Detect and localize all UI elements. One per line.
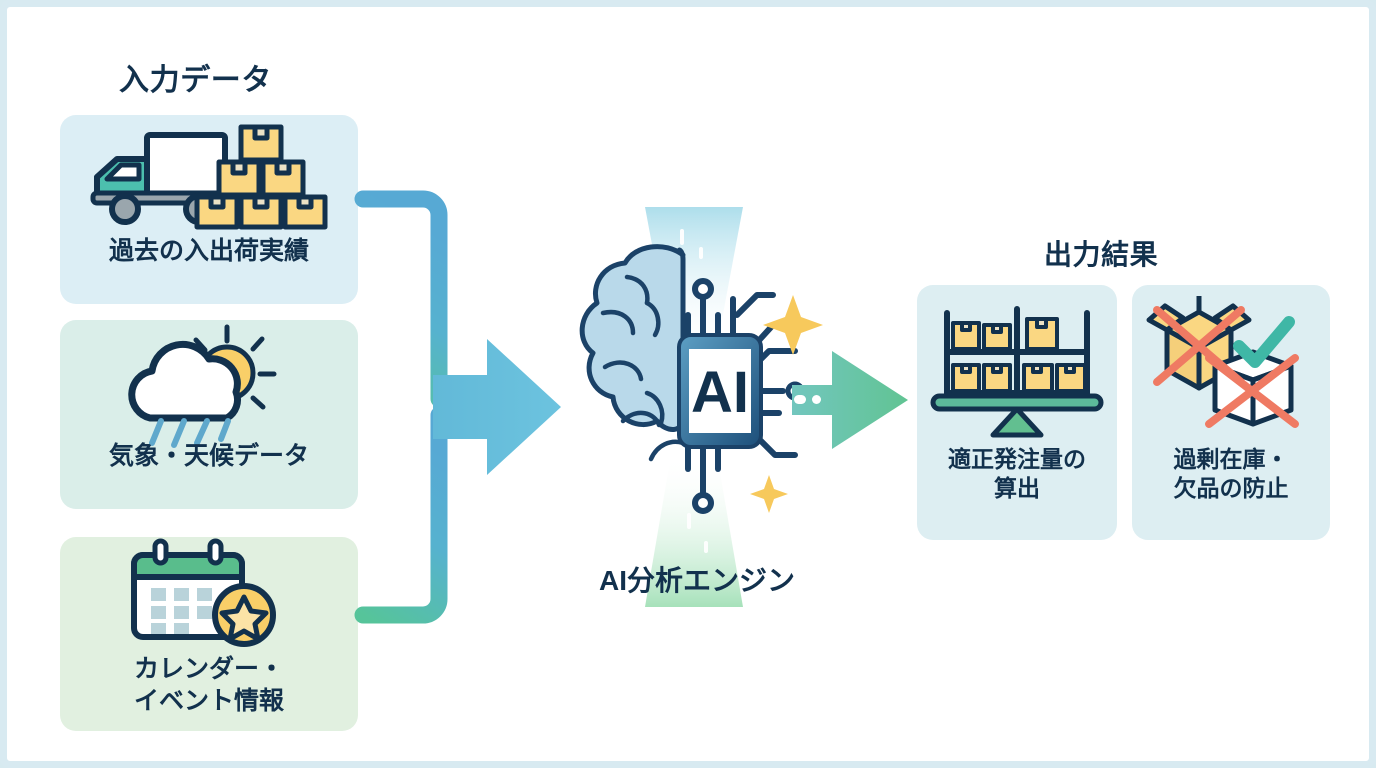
input-card-shipping-label: 過去の入出荷実績 [109, 235, 309, 267]
calendar-star-icon [60, 537, 358, 649]
cloud-sun-rain-icon [60, 320, 358, 438]
output-card-stock[interactable]: 過剰在庫・ 欠品の防止 [1132, 285, 1330, 540]
input-card-calendar[interactable]: カレンダー・ イベント情報 [60, 537, 358, 731]
truck-boxes-icon [60, 115, 358, 233]
input-card-calendar-label: カレンダー・ イベント情報 [134, 653, 284, 717]
balance-shelf-icon [917, 285, 1117, 445]
engine-label: AI分析エンジン [547, 559, 847, 599]
engine-to-output-arrow [792, 345, 912, 455]
crossed-boxes-check-icon [1132, 285, 1330, 445]
input-card-weather-label: 気象・天候データ [109, 440, 309, 472]
diagram-canvas: 入力データ 出力結果 [0, 0, 1376, 768]
input-card-weather[interactable]: 気象・天候データ [60, 320, 358, 509]
output-section-title: 出力結果 [1044, 233, 1158, 273]
output-card-order-label: 適正発注量の 算出 [948, 445, 1086, 504]
ai-chip-text: AI [691, 360, 749, 425]
output-card-stock-label: 過剰在庫・ 欠品の防止 [1174, 445, 1289, 504]
output-card-order[interactable]: 適正発注量の 算出 [917, 285, 1117, 540]
input-card-shipping[interactable]: 過去の入出荷実績 [60, 115, 358, 304]
input-section-title: 入力データ [119, 55, 272, 99]
